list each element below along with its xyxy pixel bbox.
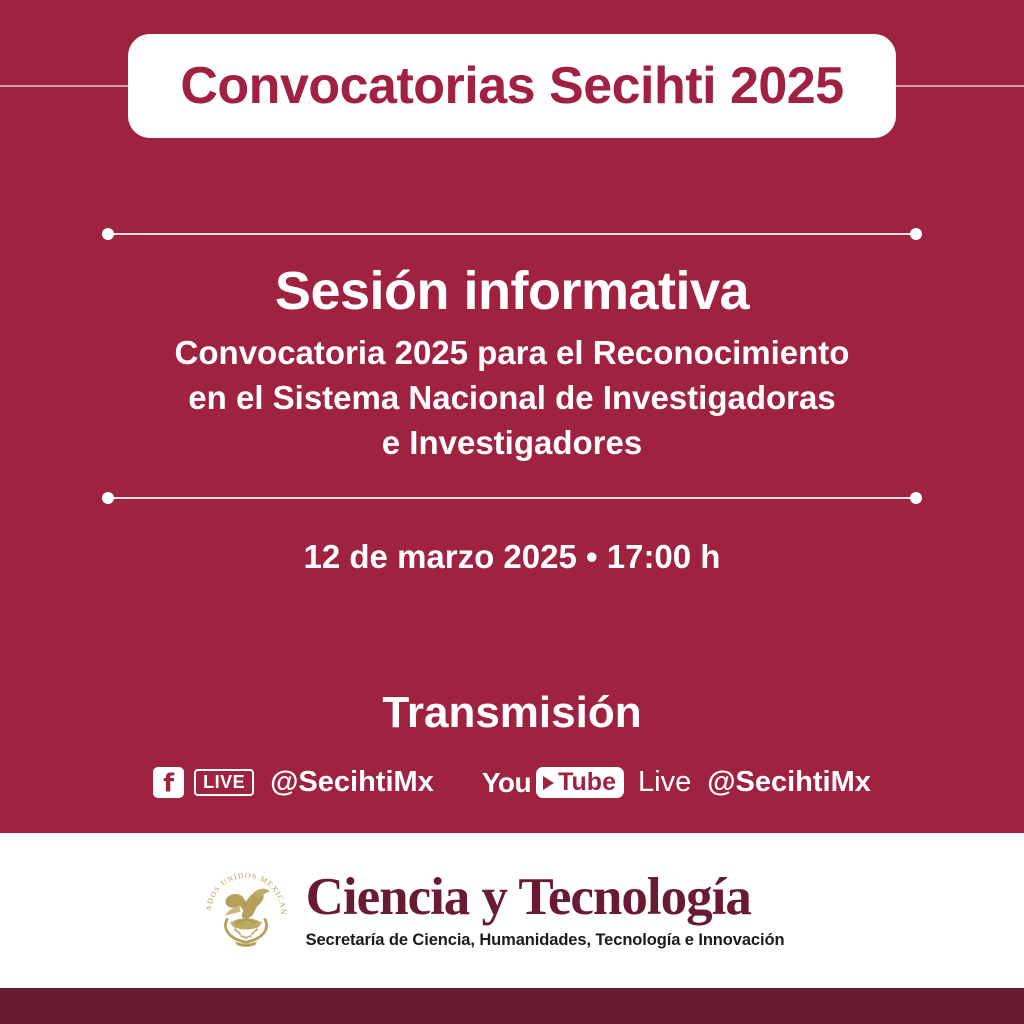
footer-brand-title: Ciencia y Tecnología	[306, 871, 785, 924]
subheadline: Convocatoria 2025 para el Reconocimiento…	[112, 331, 912, 466]
footer-brand-subtitle: Secretaría de Ciencia, Humanidades, Tecn…	[306, 931, 785, 950]
footer-bar: ESTADOS UNIDOS MEXICANOS	[0, 833, 1024, 988]
youtube-handle[interactable]: @SecihtiMx	[707, 766, 871, 799]
youtube-logo-tube: Tube	[536, 767, 624, 798]
youtube-icon: You Tube	[482, 767, 624, 799]
subheadline-line-1: Convocatoria 2025 para el Reconocimiento	[112, 331, 912, 376]
mexico-coat-of-arms-icon: ESTADOS UNIDOS MEXICANOS	[200, 865, 292, 957]
subheadline-line-3: e Investigadores	[112, 421, 912, 466]
facebook-icon	[153, 767, 184, 798]
footer-logo-lockup: ESTADOS UNIDOS MEXICANOS	[200, 865, 785, 957]
page-title: Convocatorias Secihti 2025	[180, 56, 843, 116]
youtube-logo-you: You	[482, 767, 531, 799]
transmision-heading: Transmisión	[0, 688, 1024, 738]
main-content-frame: Sesión informativa Convocatoria 2025 par…	[102, 228, 922, 504]
title-banner: Convocatorias Secihti 2025	[128, 34, 896, 138]
footer-text-block: Ciencia y Tecnología Secretaría de Cienc…	[306, 871, 785, 950]
facebook-handle[interactable]: @SecihtiMx	[270, 766, 434, 799]
bottom-accent-bar	[0, 988, 1024, 1024]
event-datetime: 12 de marzo 2025 • 17:00 h	[0, 538, 1024, 576]
divider-top	[102, 228, 922, 240]
facebook-channel[interactable]: LIVE @SecihtiMx	[153, 766, 434, 799]
headline: Sesión informativa	[112, 262, 912, 321]
divider-bottom	[102, 492, 922, 504]
divider-dot-right-icon	[910, 492, 922, 504]
subheadline-line-2: en el Sistema Nacional de Investigadoras	[112, 376, 912, 421]
facebook-live-badge: LIVE	[194, 769, 254, 796]
main-text-block: Sesión informativa Convocatoria 2025 par…	[102, 240, 922, 484]
youtube-channel[interactable]: You Tube Live @SecihtiMx	[482, 766, 871, 799]
divider-line	[108, 497, 916, 499]
divider-line	[108, 233, 916, 235]
broadcast-channels: LIVE @SecihtiMx You Tube Live @SecihtiMx	[0, 766, 1024, 799]
header-rule-left	[0, 85, 128, 87]
youtube-live-label: Live	[638, 766, 691, 799]
poster-canvas: Convocatorias Secihti 2025 Sesión inform…	[0, 0, 1024, 1024]
divider-dot-right-icon	[910, 228, 922, 240]
header-rule-right	[896, 85, 1024, 87]
